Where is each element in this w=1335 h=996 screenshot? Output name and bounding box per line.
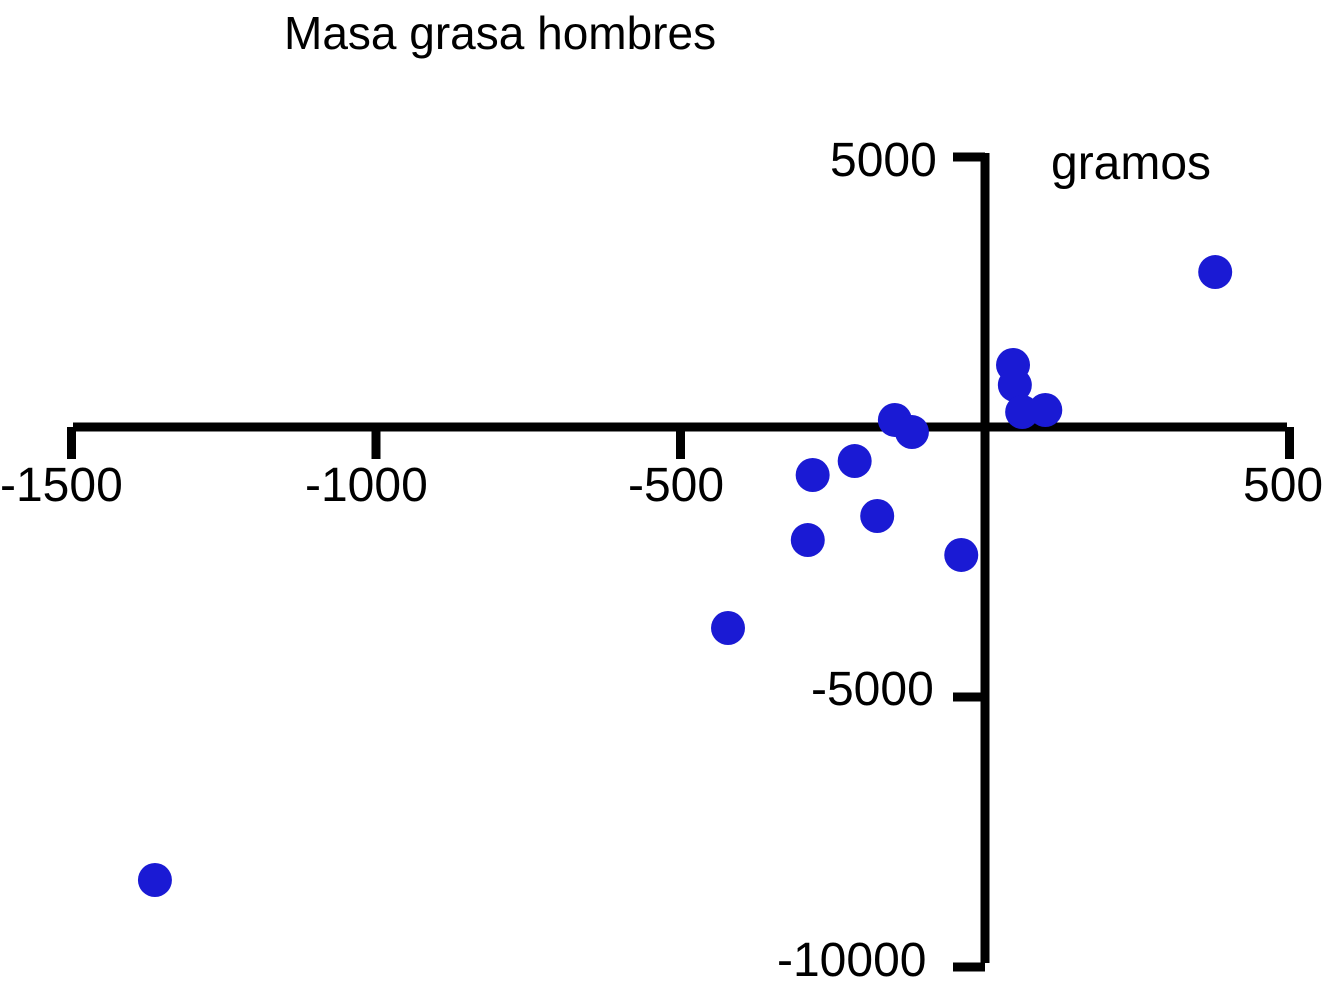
plot-area [0, 0, 1335, 996]
data-point [1028, 393, 1062, 427]
data-point [711, 611, 745, 645]
data-point [944, 538, 978, 572]
x-axis-ticks [72, 427, 1290, 459]
data-point [838, 444, 872, 478]
data-point [791, 523, 825, 557]
data-point [796, 458, 830, 492]
data-points [138, 255, 1232, 897]
axes [72, 153, 1290, 967]
data-point [1198, 255, 1232, 289]
data-point [138, 863, 172, 897]
data-point [895, 415, 929, 449]
data-point [860, 499, 894, 533]
chart-figure: Masa grasa hombres gramos -1500 -1000 -5… [0, 0, 1335, 996]
